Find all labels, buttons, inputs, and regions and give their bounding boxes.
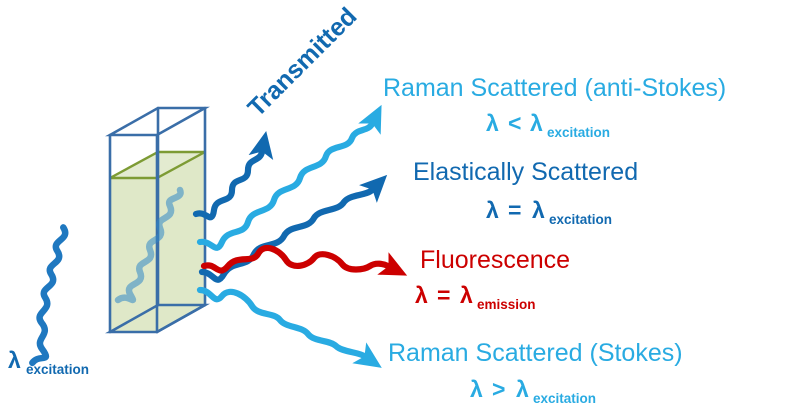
raman-scattering-diagram: λ excitation Transmitted Raman Scattered… — [0, 0, 785, 420]
elastic-lambda1: λ — [486, 197, 499, 223]
anti-stokes-lambda2: λ — [530, 110, 543, 136]
elastic-label: Elastically Scattered — [413, 158, 638, 186]
fluorescence-lambda2: λ — [460, 282, 473, 308]
fluorescence-lambda1: λ — [415, 282, 428, 308]
stokes-relation: > — [492, 376, 505, 402]
elastic-relation: = — [508, 197, 521, 223]
excitation-subscript: excitation — [26, 362, 89, 377]
anti-stokes-label: Raman Scattered (anti-Stokes) — [383, 74, 726, 102]
fluorescence-subscript: emission — [477, 297, 536, 312]
anti-stokes-lambda1: λ — [486, 110, 499, 136]
elastic-subscript: excitation — [549, 212, 612, 227]
stokes-subscript: excitation — [533, 391, 596, 406]
excitation-lambda: λ — [8, 347, 21, 373]
fluorescence-relation: = — [437, 282, 450, 308]
stokes-lambda2: λ — [516, 376, 529, 402]
stokes-lambda1: λ — [470, 376, 483, 402]
anti-stokes-relation: < — [508, 110, 521, 136]
stokes-label: Raman Scattered (Stokes) — [388, 339, 683, 367]
anti-stokes-subscript: excitation — [547, 125, 610, 140]
fluorescence-label: Fluorescence — [420, 246, 570, 274]
elastic-lambda2: λ — [532, 197, 545, 223]
